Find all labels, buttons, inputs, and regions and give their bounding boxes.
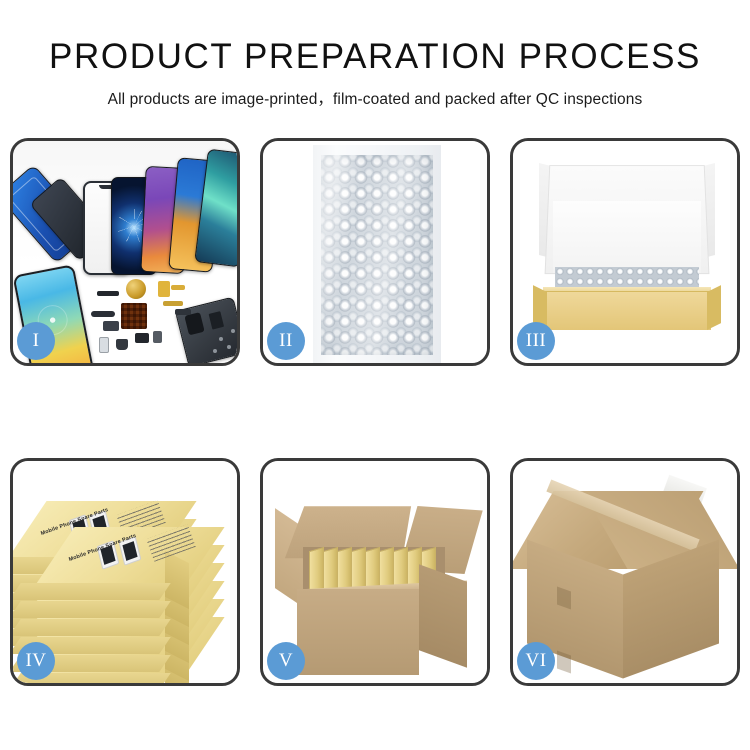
spare-part-connector (97, 291, 119, 296)
spare-part-logic-board (121, 303, 147, 329)
spare-part-battery-tab (158, 281, 170, 297)
bubble-wrap-sheen (321, 155, 433, 355)
product-preparation-infographic: PRODUCT PREPARATION PROCESS All products… (0, 0, 750, 750)
step-panel-4: Mobile Phone Spare Parts Mobile Phone Sp… (10, 458, 240, 686)
steps-grid: I II III (10, 138, 740, 690)
page-title: PRODUCT PREPARATION PROCESS (0, 36, 750, 78)
spare-part-speaker (126, 279, 146, 299)
step-panel-3: III (510, 138, 740, 366)
step-panel-5: V (260, 458, 490, 686)
page-subtitle: All products are image-printed，film-coat… (0, 87, 750, 109)
step-badge-1: I (17, 322, 55, 360)
step-panel-6: VI (510, 458, 740, 686)
mailer-front-panel (543, 291, 711, 330)
carton-handle-notch-bottom (557, 650, 571, 673)
carton-side-panel (419, 564, 467, 667)
step-badge-2: II (267, 322, 305, 360)
screw-4 (231, 329, 235, 333)
step-badge-4: IV (17, 642, 55, 680)
spare-part-sensor (175, 309, 191, 315)
spare-part-camera (103, 321, 119, 331)
step-panel-1: I (10, 138, 240, 366)
page-header: PRODUCT PREPARATION PROCESS All products… (0, 0, 750, 109)
step-badge-5: V (267, 642, 305, 680)
spare-part-antenna (91, 311, 115, 317)
spare-part-button (153, 331, 162, 343)
step-badge-6: VI (517, 642, 555, 680)
screw-1 (219, 337, 223, 341)
carton-front-panel (297, 589, 419, 675)
step-panel-2: II (260, 138, 490, 366)
spare-part-gold-strip (163, 301, 183, 306)
screw-2 (227, 345, 231, 349)
spare-part-flex-cable (171, 285, 185, 290)
spare-part-taptic (135, 333, 149, 343)
step-badge-3: III (517, 322, 555, 360)
phone-back-cover (175, 297, 237, 363)
spare-part-bracket (116, 339, 128, 350)
spare-part-sim-tray (99, 337, 109, 353)
mailer-inner-wall (553, 201, 701, 273)
screw-3 (213, 349, 217, 353)
